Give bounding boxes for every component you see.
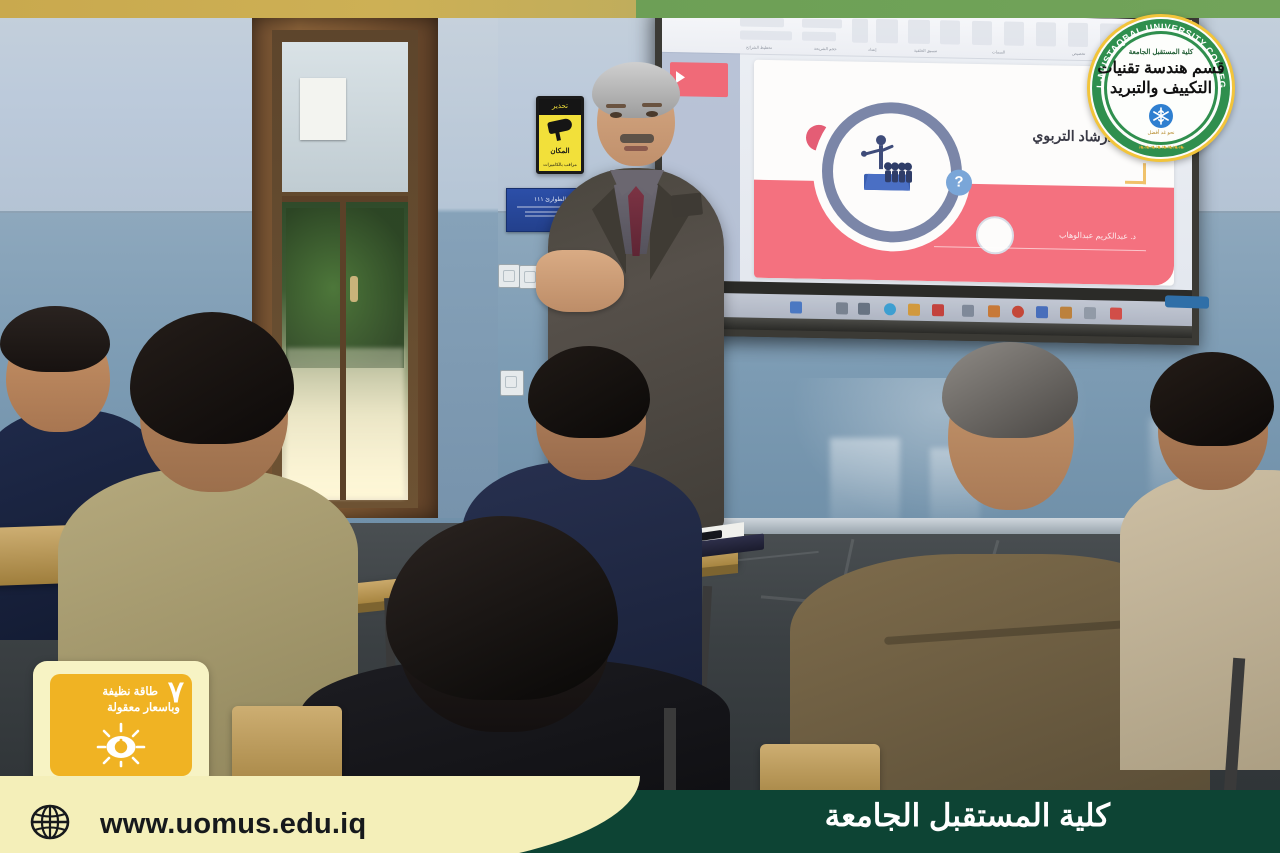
sdg-badge-card: ٧ طاقة نظيفة وباسعار معقولة [50, 674, 192, 776]
cctv-sign-heading: تحذير [539, 99, 581, 115]
lecturer-hair [592, 62, 680, 118]
sun-power-icon [95, 722, 147, 768]
taskbar-edge-icon[interactable] [884, 303, 896, 315]
website-url[interactable]: www.uomus.edu.iq [100, 808, 366, 841]
taskbar-app-icon[interactable] [1012, 306, 1024, 318]
taskbar-word-icon[interactable] [1036, 306, 1048, 318]
taskbar-start-icon[interactable] [790, 301, 802, 313]
door-notice-paper [300, 78, 346, 140]
sdg-badge: ٧ طاقة نظيفة وباسعار معقولة [33, 661, 209, 789]
door-handle[interactable] [350, 276, 358, 302]
ribbon-label: إعداد [868, 47, 877, 52]
lecturer-eyebrow [606, 104, 626, 108]
question-mark-bubble: ? [946, 169, 972, 195]
ribbon-control[interactable] [1004, 21, 1024, 45]
ribbon-control[interactable] [972, 21, 992, 45]
board-marker-tray [1165, 295, 1209, 309]
sdg-badge-line-2: وباسعار معقولة [58, 700, 180, 714]
ribbon-control[interactable] [802, 19, 842, 29]
wall-socket[interactable] [498, 264, 520, 288]
seal-arabic-small: كلية المستقبل الجامعة [1087, 48, 1235, 56]
wall-socket[interactable] [500, 370, 524, 396]
lecturer-eyebrow [642, 103, 662, 107]
cctv-sign-label: المكان [539, 147, 581, 155]
seal-laurel-ornament: ❧❧❧❧❧❧❧❧ [1087, 143, 1235, 152]
ribbon-control[interactable] [740, 18, 784, 27]
sdg-badge-line-1: طاقة نظيفة [58, 684, 158, 698]
cctv-warning-sign: تحذير المكان مراقب بالكاميرات [536, 96, 584, 174]
taskbar-app-icon[interactable] [1084, 307, 1096, 319]
lecturer-mouth [624, 146, 648, 151]
ribbon-control[interactable] [740, 30, 792, 40]
snowflake-icon [1149, 104, 1173, 128]
lecturer-pocket-square [671, 192, 703, 217]
cctv-sign-subtext: مراقب بالكاميرات [539, 162, 581, 168]
ribbon-control[interactable] [876, 19, 898, 43]
taskbar-app-icon[interactable] [1110, 308, 1122, 320]
footer-arabic-name: كلية المستقبل الجامعة [825, 798, 1110, 834]
ribbon-label: تخطيط الشرائح [746, 45, 772, 50]
university-seal: AL-MUSTAQBAL UNIVERSITY COLLEGE كلية الم… [1087, 14, 1235, 162]
ribbon-control[interactable] [1068, 23, 1088, 47]
slide-corner-bracket [1125, 163, 1146, 184]
ribbon-label: تخصيص [1072, 51, 1085, 56]
taskbar-app-icon[interactable] [962, 305, 974, 317]
cctv-sign-heading-bar: تحذير [539, 99, 581, 115]
lecturer-eye [646, 111, 658, 117]
banner-stage: تحذير المكان مراقب بالكاميرات الطوارئ ١١… [0, 0, 1280, 853]
ribbon-control[interactable] [852, 19, 868, 43]
seal-arabic-line-1: قسم هندسة تقنيات [1087, 58, 1235, 78]
taskbar-taskview-icon[interactable] [858, 303, 870, 315]
ribbon-label: حجم الشريحة [814, 46, 837, 51]
lecturer-eye [610, 112, 622, 118]
door-mullion [340, 200, 346, 500]
student-torso [1120, 470, 1280, 770]
taskbar-search-icon[interactable] [836, 302, 848, 314]
seal-arabic-line-2: التكييف والتبريد [1087, 78, 1235, 98]
ribbon-label: تنسيق الخلفية [914, 48, 937, 53]
seal-motto: نحو غد أفضل [1087, 130, 1235, 136]
wall-column [438, 18, 498, 518]
ribbon-control[interactable] [802, 32, 836, 42]
ribbon-label: السمات [992, 49, 1005, 54]
ribbon-control[interactable] [1036, 22, 1056, 46]
taskbar-powerpoint-icon[interactable] [988, 305, 1000, 317]
ribbon-control[interactable] [940, 20, 960, 44]
cctv-camera-icon [547, 118, 573, 135]
taskbar-app-icon[interactable] [932, 304, 944, 316]
teacher-and-students-illustration [858, 132, 916, 195]
ribbon-control[interactable] [908, 20, 930, 44]
footer-bar: كلية المستقبل الجامعة www.uomus.edu.iq [0, 790, 1280, 853]
lecturer-clasped-hands [536, 250, 624, 312]
taskbar-app-icon[interactable] [1060, 307, 1072, 319]
lecturer-moustache [620, 134, 654, 143]
taskbar-explorer-icon[interactable] [908, 304, 920, 316]
globe-icon [30, 803, 70, 841]
top-band-gold-segment [0, 0, 640, 18]
